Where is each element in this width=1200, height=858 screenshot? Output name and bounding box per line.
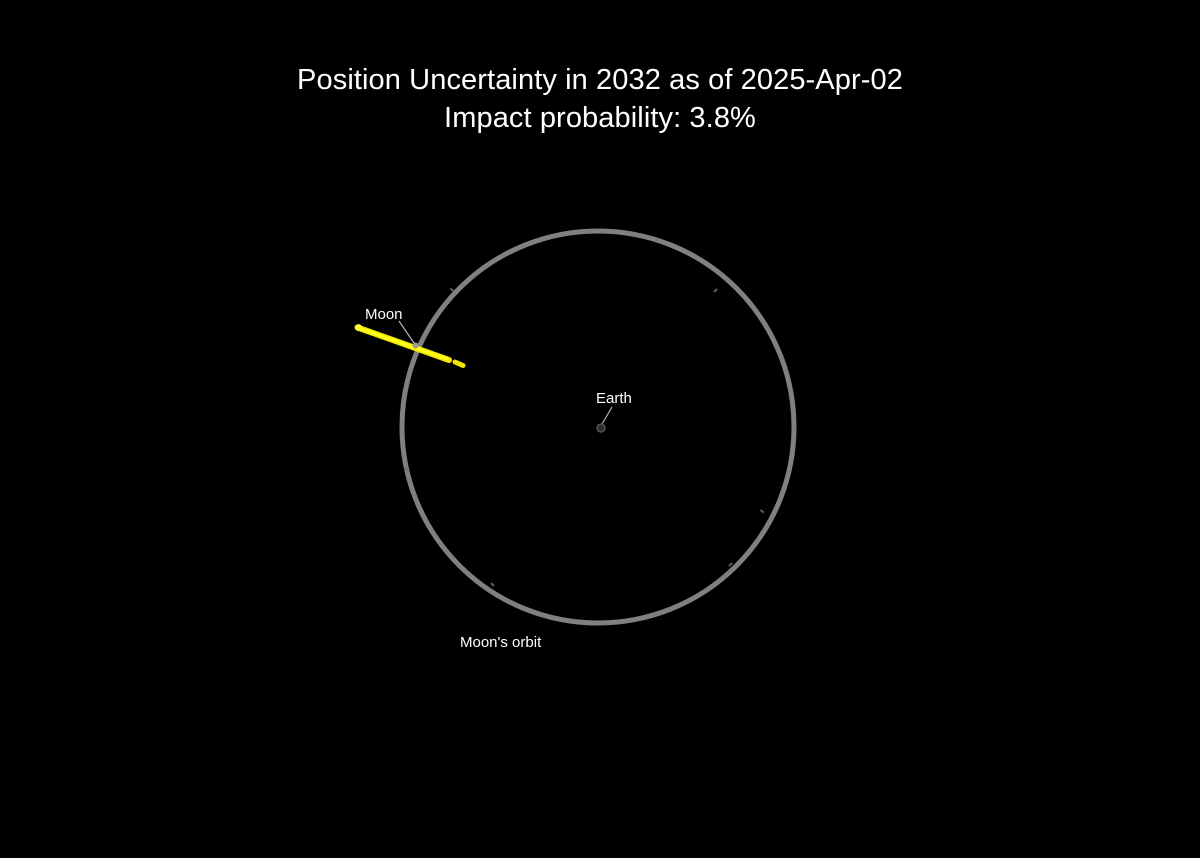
earth-label: Earth [596, 390, 632, 407]
earth-leader-line [602, 407, 612, 424]
orbit-plot: Moon Earth Moon's orbit [0, 0, 1200, 858]
orbit-tick-marks [405, 288, 764, 586]
moon-orbit-label: Moon's orbit [460, 634, 542, 651]
figure-canvas: Position Uncertainty in 2032 as of 2025-… [0, 0, 1200, 858]
moon-label: Moon [365, 306, 403, 323]
moon-marker [413, 343, 419, 349]
asteroid-uncertainty-streak-tail [455, 362, 463, 366]
asteroid-uncertainty-streak-core [360, 329, 447, 360]
earth-marker [597, 424, 605, 432]
asteroid-streak-left-endpoint [355, 324, 362, 331]
